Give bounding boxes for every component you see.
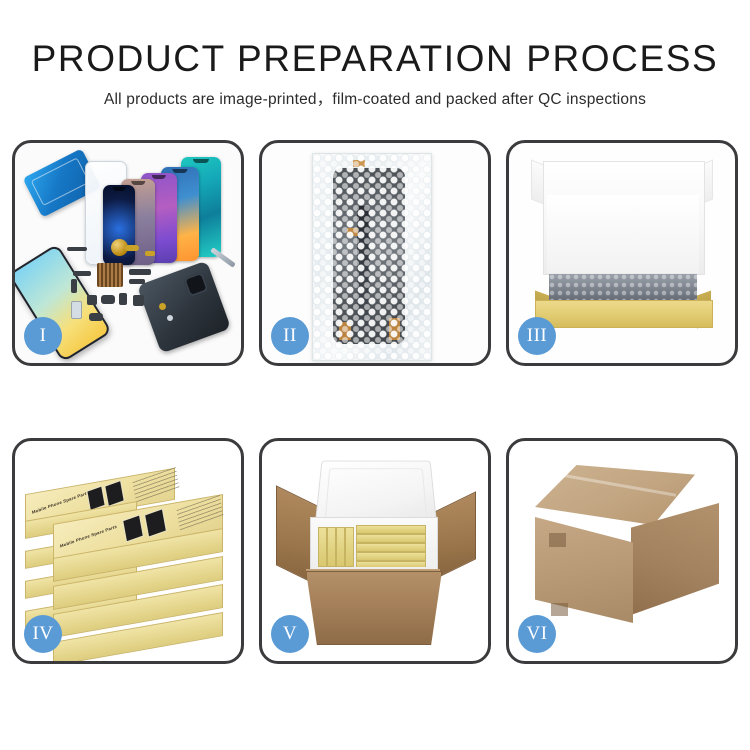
page-title: PRODUCT PREPARATION PROCESS xyxy=(0,36,750,82)
bubble-texture-overlay xyxy=(313,154,431,360)
step-badge-6: VI xyxy=(518,615,556,653)
bubble-wrapped-contents xyxy=(549,274,697,302)
foam-sheet xyxy=(547,195,699,273)
carton-tape-lower xyxy=(551,603,568,616)
box-label-front: Mobile Phone Spare Parts xyxy=(60,524,118,549)
panel-step-2: II xyxy=(259,140,491,366)
panel-step-3: III xyxy=(506,140,738,366)
bubble-wrap-bag xyxy=(312,153,432,361)
process-steps-grid: I II xyxy=(12,140,738,688)
step-badge-5: V xyxy=(271,615,309,653)
step-badge-2: II xyxy=(271,317,309,355)
panel-step-5: V xyxy=(259,438,491,664)
page-subtitle: All products are image-printed，film-coat… xyxy=(0,89,750,111)
panel-step-6: VI xyxy=(506,438,738,664)
step-badge-4: IV xyxy=(24,615,62,653)
carton-body xyxy=(306,571,442,645)
product-preparation-infographic: PRODUCT PREPARATION PROCESS All products… xyxy=(0,0,750,750)
panel-step-1: I xyxy=(12,140,244,366)
spare-parts-cluster xyxy=(67,243,187,335)
step-badge-3: III xyxy=(518,317,556,355)
header: PRODUCT PREPARATION PROCESS All products… xyxy=(0,0,750,111)
packed-yellow-boxes xyxy=(318,523,428,567)
panel-step-4: Mobile Phone Spare Parts Mobile Phone Sp… xyxy=(12,438,244,664)
step-badge-1: I xyxy=(24,317,62,355)
kraft-box-front xyxy=(535,300,713,328)
carton-tape-upper xyxy=(549,533,566,547)
